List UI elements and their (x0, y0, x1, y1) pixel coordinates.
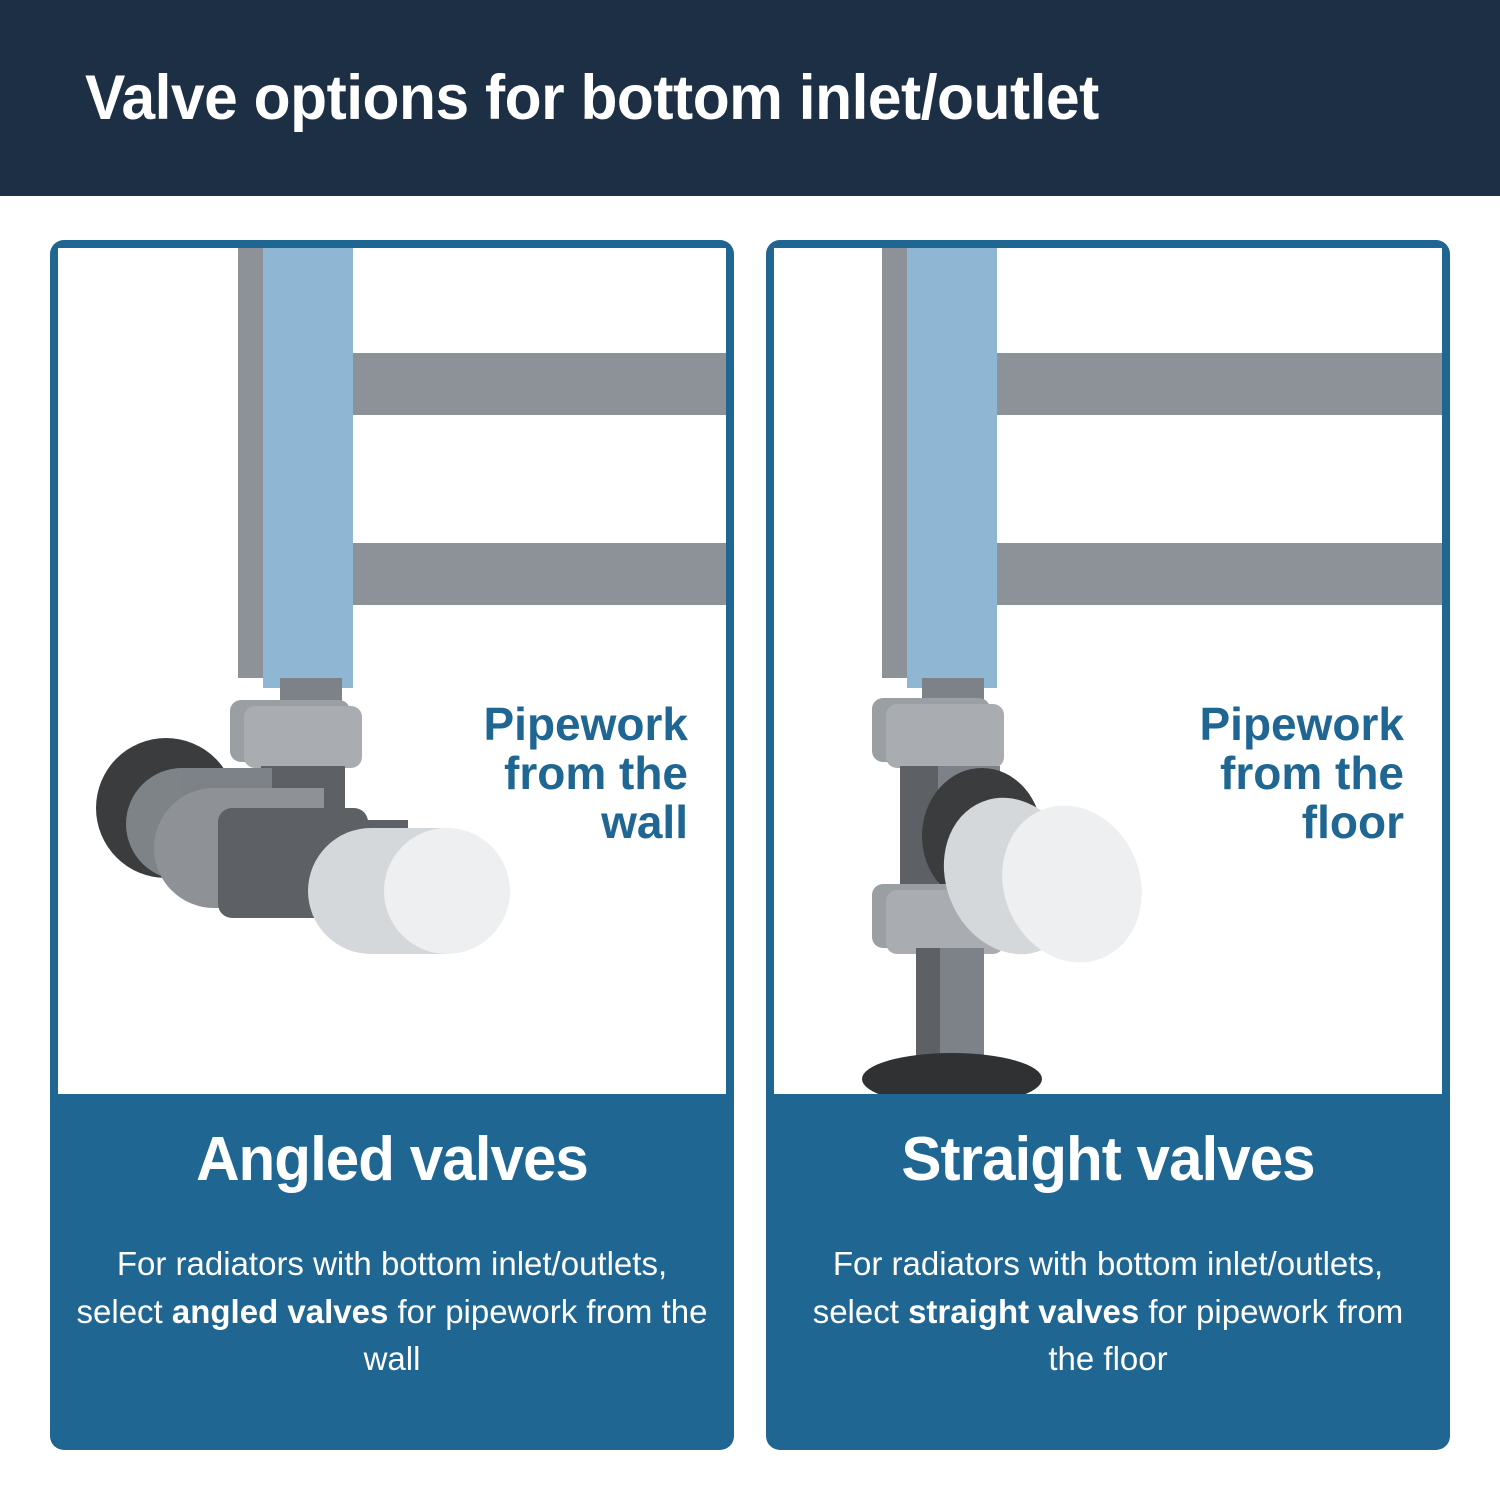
radiator-front-post (907, 248, 997, 688)
valve-upper-nut (886, 704, 1004, 768)
callout-pipework-from-floor: Pipework from the floor (1074, 700, 1404, 846)
desc-emphasis: angled valves (172, 1293, 388, 1330)
illustration-straight-valve: Pipework from the floor (774, 248, 1442, 1094)
callout-pipework-from-wall: Pipework from the wall (358, 700, 688, 846)
illustration-angled-valve: Pipework from the wall (58, 248, 726, 1094)
card-description-straight: For radiators with bottom inlet/outlets,… (790, 1240, 1426, 1383)
radiator-front-post (263, 248, 353, 688)
desc-emphasis: straight valves (908, 1293, 1139, 1330)
cards-container: Pipework from the wall Angled valves For… (0, 196, 1500, 1500)
radiator-rail-bottom (997, 543, 1442, 605)
valve-nut (244, 706, 362, 768)
radiator-rail-top (353, 353, 726, 415)
card-title-angled: Angled valves (60, 1124, 723, 1195)
card-angled-valves[interactable]: Pipework from the wall Angled valves For… (50, 240, 734, 1450)
card-straight-valves[interactable]: Pipework from the floor Straight valves … (766, 240, 1450, 1450)
desc-part-3: for pipework from the wall (364, 1293, 708, 1378)
radiator-rail-bottom (353, 543, 726, 605)
valve-knob-cap (384, 828, 510, 954)
floor-escutcheon (862, 1053, 1042, 1094)
radiator-rail-top (997, 353, 1442, 415)
card-description-angled: For radiators with bottom inlet/outlets,… (74, 1240, 710, 1383)
page-title: Valve options for bottom inlet/outlet (85, 0, 1099, 196)
card-title-straight: Straight valves (776, 1124, 1439, 1195)
header-banner: Valve options for bottom inlet/outlet (0, 0, 1500, 196)
